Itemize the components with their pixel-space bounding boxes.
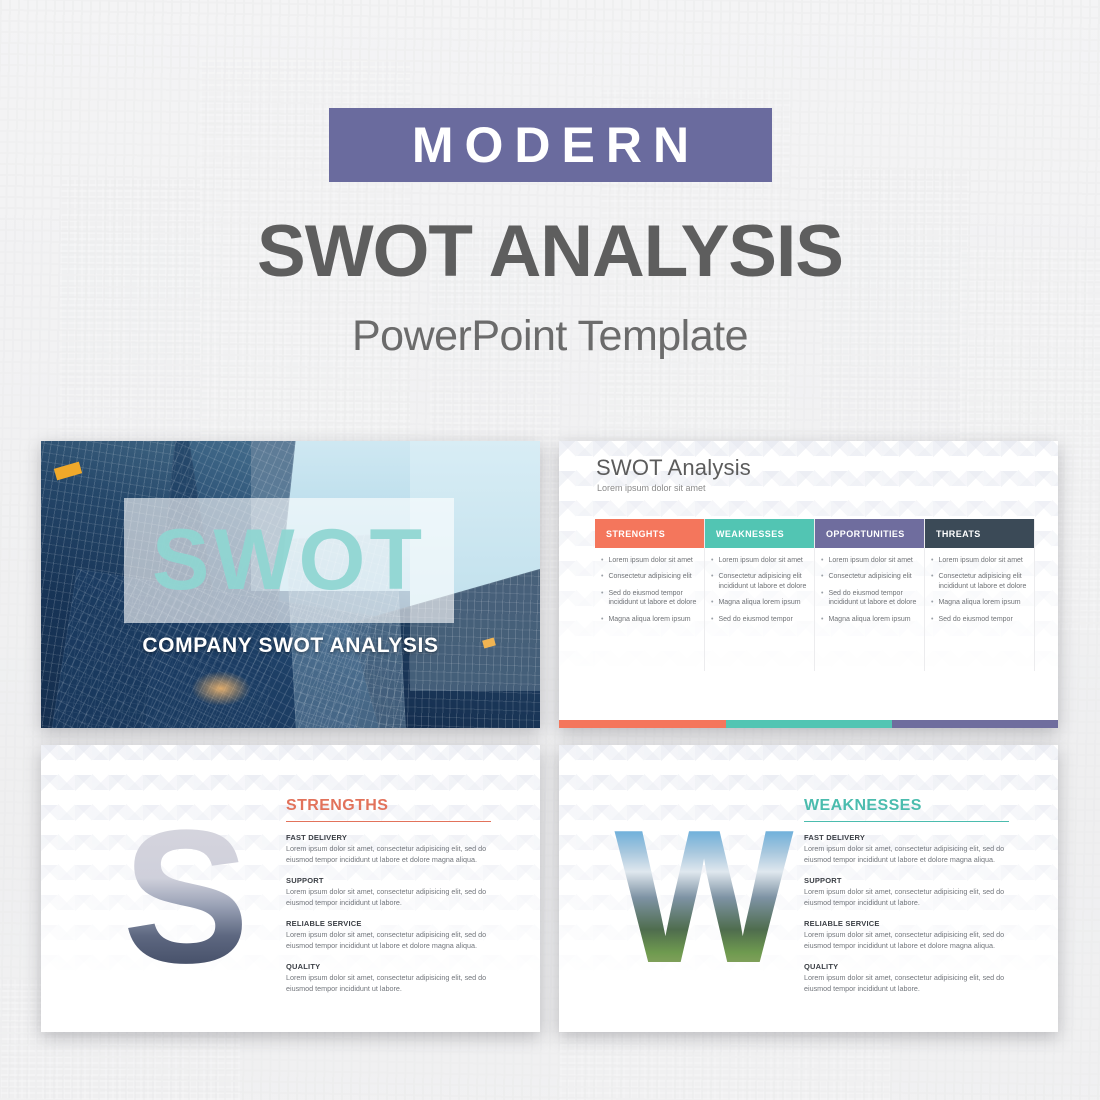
list-item: •Sed do eiusmod tempor incididunt ut lab… bbox=[821, 589, 917, 608]
block-title: RELIABLE SERVICE bbox=[286, 919, 491, 928]
column-header: THREATS bbox=[925, 519, 1034, 548]
list-item: •Sed do eiusmod tempor bbox=[931, 615, 1027, 624]
block-title: SUPPORT bbox=[804, 876, 1009, 885]
list-item: •Consectetur adipisicing elit bbox=[601, 572, 697, 581]
block-title: FAST DELIVERY bbox=[286, 833, 491, 842]
block-title: FAST DELIVERY bbox=[804, 833, 1009, 842]
list-item-text: Lorem ipsum dolor sit amet bbox=[938, 556, 1022, 565]
section-title: WEAKNESSES bbox=[804, 797, 1009, 815]
slide-weaknesses[interactable]: W WEAKNESSES FAST DELIVERY Lorem ipsum d… bbox=[559, 745, 1058, 1032]
column-header: OPPORTUNITIES bbox=[815, 519, 924, 548]
list-item-text: Consectetur adipisicing elit bbox=[608, 572, 691, 581]
column-items: •Lorem ipsum dolor sit amet •Consectetur… bbox=[815, 548, 924, 671]
list-item-text: Sed do eiusmod tempor bbox=[938, 615, 1012, 624]
swot-table: STRENGHTS •Lorem ipsum dolor sit amet •C… bbox=[595, 519, 1035, 671]
slide-accent-bar bbox=[559, 720, 1058, 728]
swot-column-strengths: STRENGHTS •Lorem ipsum dolor sit amet •C… bbox=[595, 519, 705, 671]
section-title: STRENGTHS bbox=[286, 797, 491, 815]
letter-graphic-s: S bbox=[96, 815, 276, 980]
content-block: FAST DELIVERY Lorem ipsum dolor sit amet… bbox=[286, 833, 491, 866]
list-item: •Lorem ipsum dolor sit amet bbox=[711, 556, 807, 565]
page-subtitle: PowerPoint Template bbox=[0, 312, 1100, 361]
bullet-icon: • bbox=[931, 572, 933, 591]
swot-column-threats: THREATS •Lorem ipsum dolor sit amet •Con… bbox=[925, 519, 1035, 671]
list-item-text: Consectetur adipisicing elit bbox=[828, 572, 911, 581]
list-item: •Magna aliqua lorem ipsum bbox=[711, 598, 807, 607]
swot-column-opportunities: OPPORTUNITIES •Lorem ipsum dolor sit ame… bbox=[815, 519, 925, 671]
bullet-icon: • bbox=[931, 615, 933, 624]
column-items: •Lorem ipsum dolor sit amet •Consectetur… bbox=[925, 548, 1034, 671]
list-item-text: Magna aliqua lorem ipsum bbox=[938, 598, 1020, 607]
column-header: STRENGHTS bbox=[595, 519, 704, 548]
block-body: Lorem ipsum dolor sit amet, consectetur … bbox=[286, 887, 491, 909]
bullet-icon: • bbox=[821, 572, 823, 581]
list-item: •Consectetur adipisicing elit incididunt… bbox=[711, 572, 807, 591]
list-item-text: Sed do eiusmod tempor bbox=[718, 615, 792, 624]
list-item: •Consectetur adipisicing elit incididunt… bbox=[931, 572, 1027, 591]
list-item: •Lorem ipsum dolor sit amet bbox=[821, 556, 917, 565]
slide-title: SWOT Analysis bbox=[596, 455, 751, 481]
bullet-icon: • bbox=[931, 598, 933, 607]
block-body: Lorem ipsum dolor sit amet, consectetur … bbox=[286, 930, 491, 952]
block-title: RELIABLE SERVICE bbox=[804, 919, 1009, 928]
list-item: •Lorem ipsum dolor sit amet bbox=[931, 556, 1027, 565]
weaknesses-content: WEAKNESSES FAST DELIVERY Lorem ipsum dol… bbox=[804, 797, 1009, 1005]
bullet-icon: • bbox=[931, 556, 933, 565]
bullet-icon: • bbox=[601, 589, 603, 608]
block-body: Lorem ipsum dolor sit amet, consectetur … bbox=[804, 973, 1009, 995]
hero-section: MODERN SWOT ANALYSIS PowerPoint Template bbox=[0, 0, 1100, 420]
bullet-icon: • bbox=[601, 556, 603, 565]
list-item: •Sed do eiusmod tempor incididunt ut lab… bbox=[601, 589, 697, 608]
sun-glow bbox=[191, 671, 251, 706]
block-body: Lorem ipsum dolor sit amet, consectetur … bbox=[286, 844, 491, 866]
content-block: SUPPORT Lorem ipsum dolor sit amet, cons… bbox=[804, 876, 1009, 909]
list-item-text: Lorem ipsum dolor sit amet bbox=[718, 556, 802, 565]
slide-swot-table[interactable]: SWOT Analysis Lorem ipsum dolor sit amet… bbox=[559, 441, 1058, 728]
content-block: RELIABLE SERVICE Lorem ipsum dolor sit a… bbox=[804, 919, 1009, 952]
bullet-icon: • bbox=[711, 615, 713, 624]
bullet-icon: • bbox=[601, 572, 603, 581]
bullet-icon: • bbox=[821, 615, 823, 624]
swot-column-weaknesses: WEAKNESSES •Lorem ipsum dolor sit amet •… bbox=[705, 519, 815, 671]
list-item: •Sed do eiusmod tempor bbox=[711, 615, 807, 624]
bullet-icon: • bbox=[821, 556, 823, 565]
page-title: SWOT ANALYSIS bbox=[0, 215, 1100, 288]
block-title: SUPPORT bbox=[286, 876, 491, 885]
list-item: •Magna aliqua lorem ipsum bbox=[931, 598, 1027, 607]
bullet-icon: • bbox=[821, 589, 823, 608]
letter-graphic-w: W bbox=[614, 815, 794, 980]
list-item: •Lorem ipsum dolor sit amet bbox=[601, 556, 697, 565]
block-title: QUALITY bbox=[286, 962, 491, 971]
list-item-text: Magna aliqua lorem ipsum bbox=[828, 615, 910, 624]
list-item-text: Lorem ipsum dolor sit amet bbox=[828, 556, 912, 565]
block-title: QUALITY bbox=[804, 962, 1009, 971]
content-block: FAST DELIVERY Lorem ipsum dolor sit amet… bbox=[804, 833, 1009, 866]
accent-bar-segment bbox=[726, 720, 892, 728]
bullet-icon: • bbox=[711, 598, 713, 607]
slide-strengths[interactable]: S STRENGTHS FAST DELIVERY Lorem ipsum do… bbox=[41, 745, 540, 1032]
bullet-icon: • bbox=[601, 615, 603, 624]
modern-banner: MODERN bbox=[329, 108, 772, 182]
list-item-text: Sed do eiusmod tempor incididunt ut labo… bbox=[828, 589, 917, 608]
column-items: •Lorem ipsum dolor sit amet •Consectetur… bbox=[705, 548, 814, 671]
block-body: Lorem ipsum dolor sit amet, consectetur … bbox=[804, 887, 1009, 909]
block-body: Lorem ipsum dolor sit amet, consectetur … bbox=[804, 844, 1009, 866]
content-block: QUALITY Lorem ipsum dolor sit amet, cons… bbox=[804, 962, 1009, 995]
bullet-icon: • bbox=[711, 556, 713, 565]
modern-banner-label: MODERN bbox=[401, 120, 700, 170]
list-item: •Consectetur adipisicing elit bbox=[821, 572, 917, 581]
list-item: •Magna aliqua lorem ipsum bbox=[601, 615, 697, 624]
block-body: Lorem ipsum dolor sit amet, consectetur … bbox=[286, 973, 491, 995]
bullet-icon: • bbox=[711, 572, 713, 591]
section-rule bbox=[286, 821, 491, 822]
accent-bar-segment bbox=[892, 720, 1058, 728]
list-item-text: Consectetur adipisicing elit incididunt … bbox=[938, 572, 1027, 591]
content-block: SUPPORT Lorem ipsum dolor sit amet, cons… bbox=[286, 876, 491, 909]
list-item-text: Magna aliqua lorem ipsum bbox=[608, 615, 690, 624]
accent-bar-segment bbox=[559, 720, 726, 728]
letter-glyph: S bbox=[123, 817, 250, 979]
slide-subtitle: Lorem ipsum dolor sit amet bbox=[597, 483, 706, 493]
letter-glyph: W bbox=[614, 817, 793, 979]
block-body: Lorem ipsum dolor sit amet, consectetur … bbox=[804, 930, 1009, 952]
cover-caption: COMPANY SWOT ANALYSIS bbox=[41, 634, 540, 658]
content-block: QUALITY Lorem ipsum dolor sit amet, cons… bbox=[286, 962, 491, 995]
content-block: RELIABLE SERVICE Lorem ipsum dolor sit a… bbox=[286, 919, 491, 952]
column-header: WEAKNESSES bbox=[705, 519, 814, 548]
list-item: •Magna aliqua lorem ipsum bbox=[821, 615, 917, 624]
section-rule bbox=[804, 821, 1009, 822]
list-item-text: Magna aliqua lorem ipsum bbox=[718, 598, 800, 607]
list-item-text: Sed do eiusmod tempor incididunt ut labo… bbox=[608, 589, 697, 608]
cover-wordmark: SWOT bbox=[124, 498, 454, 623]
list-item-text: Lorem ipsum dolor sit amet bbox=[608, 556, 692, 565]
list-item-text: Consectetur adipisicing elit incididunt … bbox=[718, 572, 807, 591]
column-items: •Lorem ipsum dolor sit amet •Consectetur… bbox=[595, 548, 704, 671]
strengths-content: STRENGTHS FAST DELIVERY Lorem ipsum dolo… bbox=[286, 797, 491, 1005]
